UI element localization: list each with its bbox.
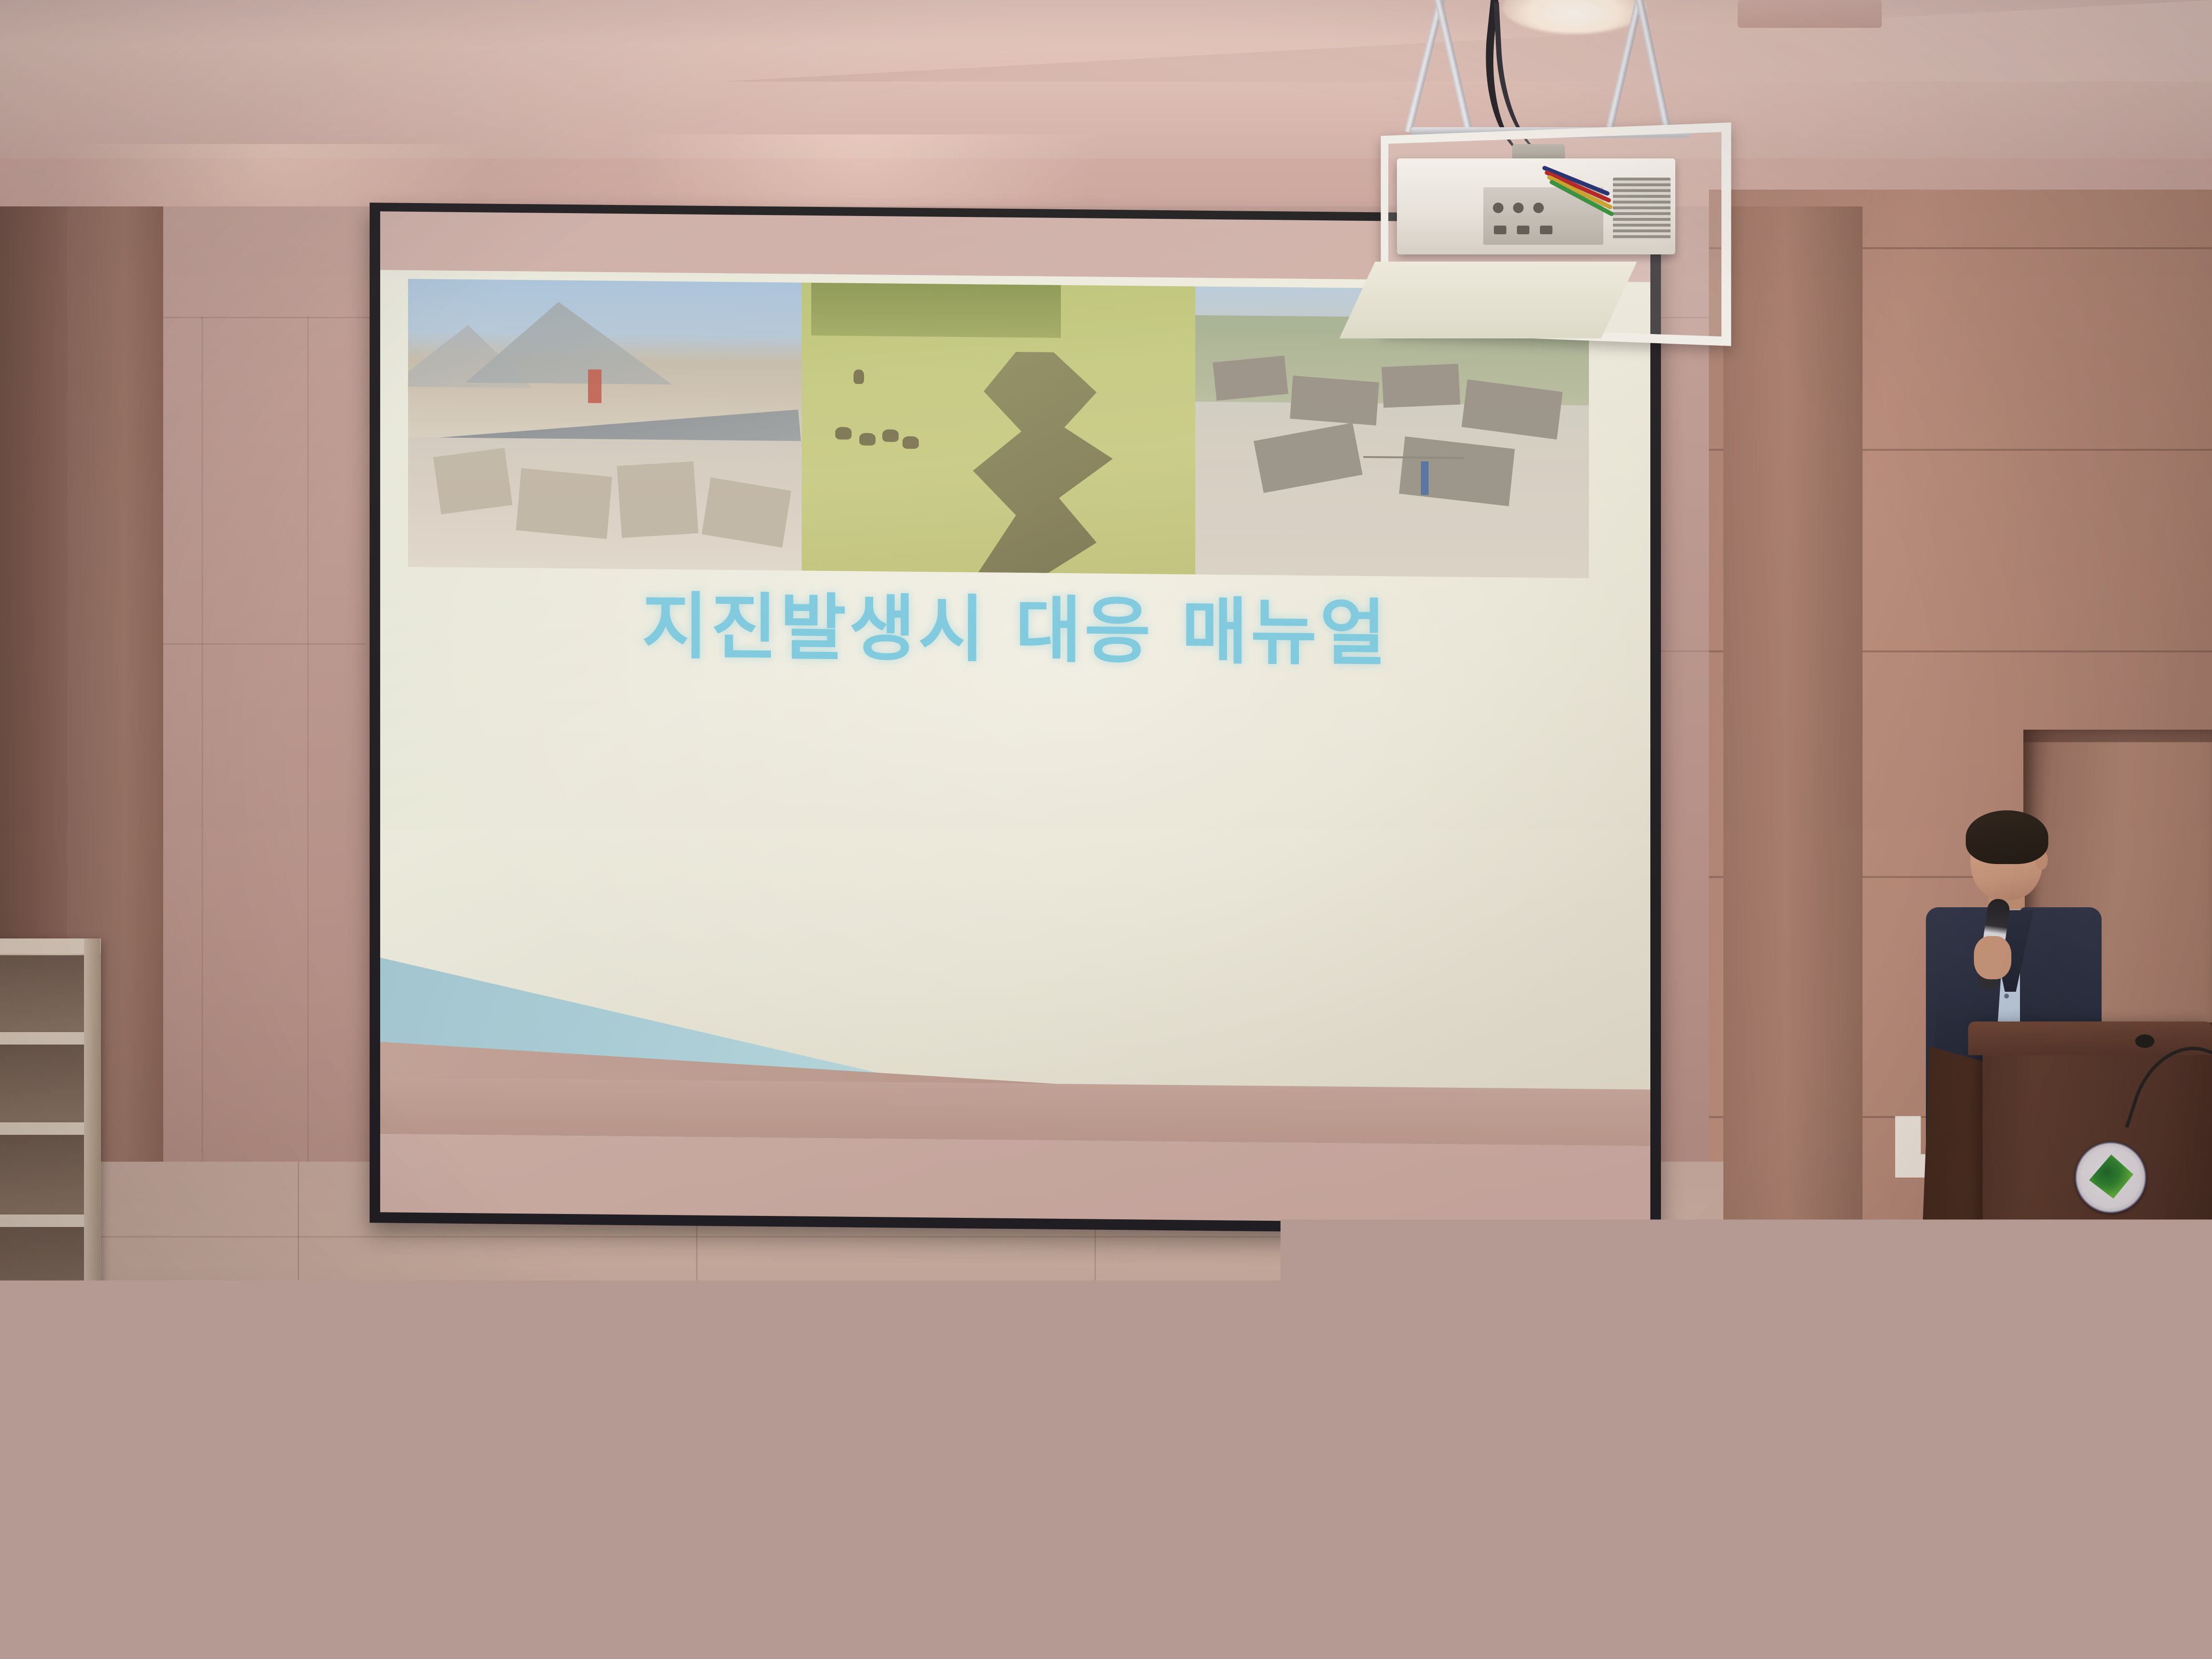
audience-head: [902, 1565, 1066, 1659]
doorway-lintel: [2023, 730, 2212, 742]
audience-head: [1728, 1589, 1872, 1659]
gooseneck-microphone-head: [2135, 1034, 2154, 1048]
audience-person-body: [1887, 1450, 2045, 1659]
bookshelf-side: [84, 938, 100, 1339]
audience-head: [1166, 1579, 1325, 1659]
water-bottle-cap: [262, 1518, 278, 1528]
audience-head: [331, 1402, 475, 1659]
projector-port: [1540, 226, 1552, 234]
bookshelf-gap: [0, 1227, 84, 1321]
bookshelf-gap: [0, 1135, 84, 1216]
bookshelf-gap: [0, 1045, 84, 1124]
audience-head: [461, 1421, 605, 1659]
bookshelf-shelf: [0, 1214, 86, 1227]
water-bottle: [1853, 1611, 1870, 1657]
cap-logo-text: POLO: [153, 1353, 190, 1368]
ceiling-projector: [1325, 0, 1738, 350]
projector-port: [1533, 203, 1544, 213]
projector-port: [1513, 203, 1524, 213]
audience-head: [600, 1397, 749, 1659]
slide-title: 지진발생시 대응 매뉴얼: [380, 587, 1650, 674]
wall-seam: [58, 1236, 1723, 1238]
projected-slide: 지진발생시 대응 매뉴얼: [380, 270, 1650, 1146]
audience-head: [1551, 1421, 1695, 1659]
water-bottle-cap: [227, 1569, 240, 1577]
audience-head: [1411, 1411, 1570, 1659]
wall-pilaster-right: [1723, 206, 1863, 1368]
slide-photo-ground-fissure: [802, 283, 1195, 575]
ceiling-vent: [1738, 0, 1882, 28]
projector-port: [1517, 226, 1529, 234]
projector-port: [1493, 203, 1503, 213]
projector-vent: [1613, 178, 1671, 240]
presenter-hair: [1966, 810, 2048, 864]
bookshelf-shelf: [0, 1032, 86, 1045]
slide-photo-collapsed-buildings: [408, 279, 802, 571]
audience-head: [2107, 1445, 2212, 1659]
water-bottle: [262, 1522, 279, 1572]
bookshelf-shelf: [0, 1122, 86, 1135]
projector-port: [1494, 226, 1506, 234]
projector-lens-shroud: [1339, 262, 1637, 338]
audience: POLO: [0, 1330, 2212, 1659]
presenter-hand: [1974, 936, 2011, 979]
projection-screen: 지진발생시 대응 매뉴얼: [370, 203, 1661, 1235]
bookshelf-gap: [0, 955, 84, 1034]
auditorium-photo: 지진발생시 대응 매뉴얼: [0, 0, 2212, 1659]
water-bottle-cap: [490, 1622, 503, 1630]
